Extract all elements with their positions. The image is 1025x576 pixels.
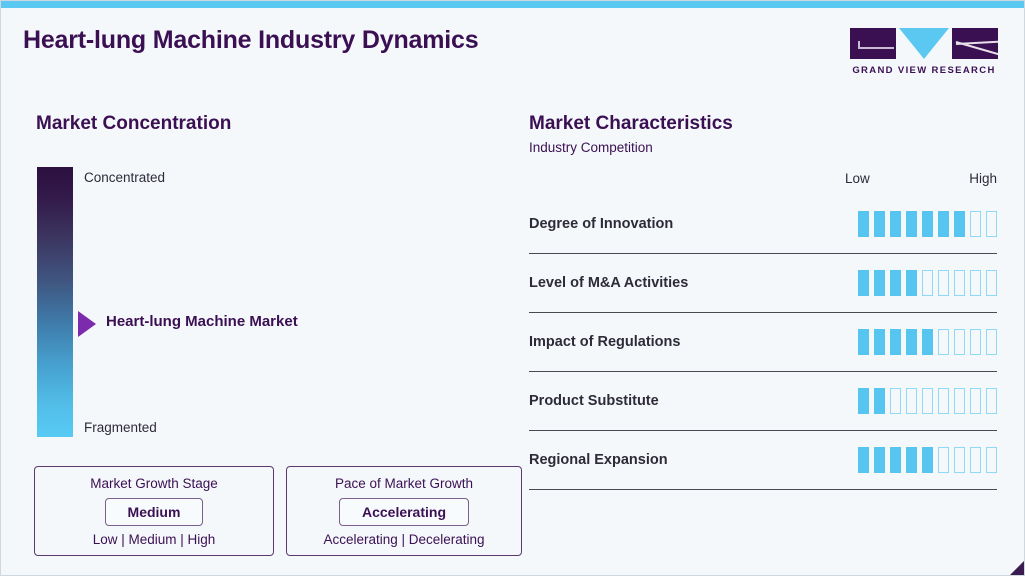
concentration-scale: Concentrated Fragmented Heart-lung Machi…	[36, 167, 516, 437]
rating-segment-empty	[938, 270, 949, 296]
scale-top-label: Concentrated	[84, 170, 165, 185]
market-growth-stage-box: Market Growth Stage Medium Low | Medium …	[34, 466, 274, 556]
characteristic-row: Product Substitute	[529, 372, 997, 431]
market-characteristics-subtitle: Industry Competition	[529, 140, 997, 155]
characteristic-rating-bars	[858, 447, 997, 473]
rating-segment-empty	[938, 447, 949, 473]
characteristic-label: Level of M&A Activities	[529, 275, 858, 291]
brand-logo: GRAND VIEW RESEARCH	[850, 28, 998, 76]
market-growth-stage-scale: Low | Medium | High	[43, 532, 265, 547]
marker-label: Heart-lung Machine Market	[106, 313, 298, 330]
characteristic-row: Degree of Innovation	[529, 195, 997, 254]
scale-bottom-label: Fragmented	[84, 420, 157, 435]
rating-segment-empty	[954, 270, 965, 296]
pace-of-market-growth-value: Accelerating	[339, 498, 469, 526]
rating-segment-filled	[858, 270, 869, 296]
rating-segment-filled	[874, 388, 885, 414]
page-title: Heart-lung Machine Industry Dynamics	[23, 26, 478, 55]
market-concentration-panel: Market Concentration Concentrated Fragme…	[36, 113, 516, 437]
concentration-gradient-bar	[37, 167, 73, 437]
rating-segment-empty	[986, 447, 997, 473]
rating-segment-empty	[970, 329, 981, 355]
characteristic-label: Degree of Innovation	[529, 216, 858, 232]
rating-segment-filled	[890, 211, 901, 237]
characteristic-rating-bars	[858, 270, 997, 296]
top-accent-bar	[1, 1, 1025, 8]
rating-segment-filled	[906, 211, 917, 237]
rating-segment-filled	[954, 211, 965, 237]
market-concentration-title: Market Concentration	[36, 113, 516, 135]
characteristic-rating-bars	[858, 211, 997, 237]
pace-of-market-growth-scale: Accelerating | Decelerating	[295, 532, 513, 547]
logo-block-right-icon	[952, 28, 998, 59]
market-growth-stage-title: Market Growth Stage	[43, 476, 265, 491]
marker-triangle-icon	[78, 311, 96, 337]
rating-axis: Low High	[529, 171, 997, 193]
corner-accent	[1010, 561, 1024, 575]
rating-segment-filled	[890, 329, 901, 355]
rating-segment-empty	[954, 447, 965, 473]
rating-segment-filled	[922, 447, 933, 473]
axis-low-label: Low	[845, 171, 870, 186]
growth-summary-boxes: Market Growth Stage Medium Low | Medium …	[34, 466, 522, 556]
rating-segment-empty	[890, 388, 901, 414]
pace-of-market-growth-title: Pace of Market Growth	[295, 476, 513, 491]
rating-segment-empty	[986, 388, 997, 414]
rating-segment-filled	[858, 329, 869, 355]
rating-segment-empty	[938, 388, 949, 414]
characteristic-label: Regional Expansion	[529, 452, 858, 468]
logo-block-left-icon	[850, 28, 896, 59]
rating-segment-empty	[954, 329, 965, 355]
pace-of-market-growth-box: Pace of Market Growth Accelerating Accel…	[286, 466, 522, 556]
rating-segment-filled	[922, 211, 933, 237]
rating-segment-filled	[906, 270, 917, 296]
rating-segment-empty	[970, 447, 981, 473]
market-characteristics-panel: Market Characteristics Industry Competit…	[529, 113, 997, 490]
rating-segment-empty	[986, 329, 997, 355]
rating-segment-empty	[986, 270, 997, 296]
rating-segment-filled	[874, 270, 885, 296]
rating-segment-empty	[922, 388, 933, 414]
rating-segment-empty	[970, 388, 981, 414]
rating-segment-filled	[858, 447, 869, 473]
rating-segment-filled	[874, 329, 885, 355]
rating-segment-filled	[874, 211, 885, 237]
characteristic-label: Impact of Regulations	[529, 334, 858, 350]
market-characteristics-title: Market Characteristics	[529, 113, 997, 135]
rating-segment-filled	[858, 211, 869, 237]
rating-segment-filled	[890, 447, 901, 473]
characteristics-rows: Degree of InnovationLevel of M&A Activit…	[529, 195, 997, 490]
market-growth-stage-value: Medium	[105, 498, 204, 526]
characteristic-row: Level of M&A Activities	[529, 254, 997, 313]
rating-segment-filled	[938, 211, 949, 237]
characteristic-label: Product Substitute	[529, 393, 858, 409]
logo-wordmark: GRAND VIEW RESEARCH	[850, 65, 998, 76]
characteristic-row: Regional Expansion	[529, 431, 997, 490]
rating-segment-empty	[970, 211, 981, 237]
logo-marks	[850, 28, 998, 59]
rating-segment-empty	[986, 211, 997, 237]
characteristic-rating-bars	[858, 388, 997, 414]
rating-segment-empty	[922, 270, 933, 296]
rating-segment-empty	[906, 388, 917, 414]
rating-segment-empty	[954, 388, 965, 414]
rating-segment-filled	[858, 388, 869, 414]
logo-triangle-icon	[899, 28, 949, 59]
rating-segment-filled	[874, 447, 885, 473]
rating-segment-filled	[922, 329, 933, 355]
axis-high-label: High	[969, 171, 997, 186]
rating-segment-empty	[938, 329, 949, 355]
rating-segment-filled	[906, 447, 917, 473]
rating-segment-filled	[890, 270, 901, 296]
rating-segment-filled	[906, 329, 917, 355]
characteristic-rating-bars	[858, 329, 997, 355]
rating-segment-empty	[970, 270, 981, 296]
characteristic-row: Impact of Regulations	[529, 313, 997, 372]
infographic-canvas: Heart-lung Machine Industry Dynamics GRA…	[0, 0, 1025, 576]
